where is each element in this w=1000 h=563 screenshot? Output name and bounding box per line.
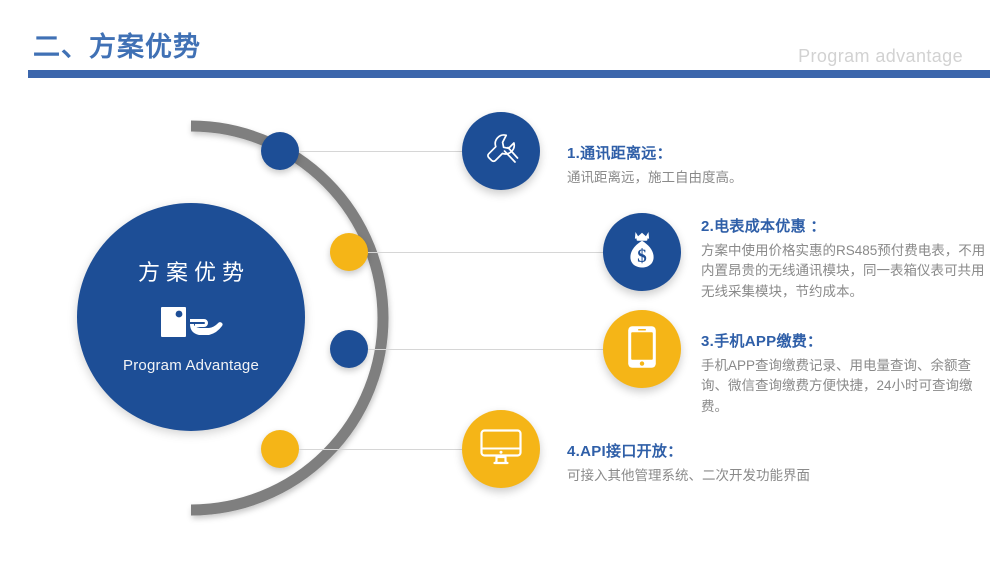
advantage-body-3: 手机APP查询缴费记录、用电量查询、余额查询、微信查询缴费方便快捷，24小时可查… [701,356,996,417]
node-dot-4[interactable] [261,430,299,468]
monitor-icon [479,427,523,472]
connector-line-3 [368,349,603,350]
slide-header: 二、方案优势 Program advantage [0,0,1000,90]
advantage-title-2: 2.电表成本优惠 ： [701,215,996,236]
advantage-item-4: 4.API接口开放： 可接入其他管理系统、二次开发功能界面 [567,440,810,486]
advantage-item-1: 1.通讯距离远： 通讯距离远，施工自由度高。 [567,142,743,188]
connector-line-2 [368,252,603,253]
page-title: 二、方案优势 [33,34,201,61]
wrench-icon [481,129,521,174]
advantage-title-3: 3.手机APP缴费： [701,330,996,351]
advantage-item-2: 2.电表成本优惠 ： 方案中使用价格实惠的RS485预付费电表，不用内置昂贵的无… [701,215,996,302]
hand-card-icon [77,301,305,343]
header-divider [28,70,990,78]
node-dot-1[interactable] [261,132,299,170]
icon-bubble-2[interactable]: $ [603,213,681,291]
hub-title: 方案优势 [77,255,305,287]
advantage-body-2: 方案中使用价格实惠的RS485预付费电表，不用内置昂贵的无线通讯模块，同一表箱仪… [701,241,996,302]
node-dot-3[interactable] [330,330,368,368]
icon-bubble-4[interactable] [462,410,540,488]
svg-text:$: $ [637,246,647,267]
node-dot-2[interactable] [330,233,368,271]
advantage-body-1: 通讯距离远，施工自由度高。 [567,168,743,188]
advantages-diagram: 方案优势 Program Advantage [0,90,1000,563]
connector-line-1 [299,151,462,152]
money-bag-icon: $ [622,229,662,276]
advantage-body-4: 可接入其他管理系统、二次开发功能界面 [567,466,810,486]
advantage-title-4: 4.API接口开放： [567,440,810,461]
connector-line-4 [299,449,462,450]
icon-bubble-1[interactable] [462,112,540,190]
icon-bubble-3[interactable] [603,310,681,388]
smartphone-icon [627,325,657,374]
advantage-item-3: 3.手机APP缴费： 手机APP查询缴费记录、用电量查询、余额查询、微信查询缴费… [701,330,996,417]
hub-subtitle: Program Advantage [77,357,305,374]
hub-circle: 方案优势 Program Advantage [77,203,305,431]
advantage-title-1: 1.通讯距离远： [567,142,743,163]
header-subtitle: Program advantage [798,46,963,67]
